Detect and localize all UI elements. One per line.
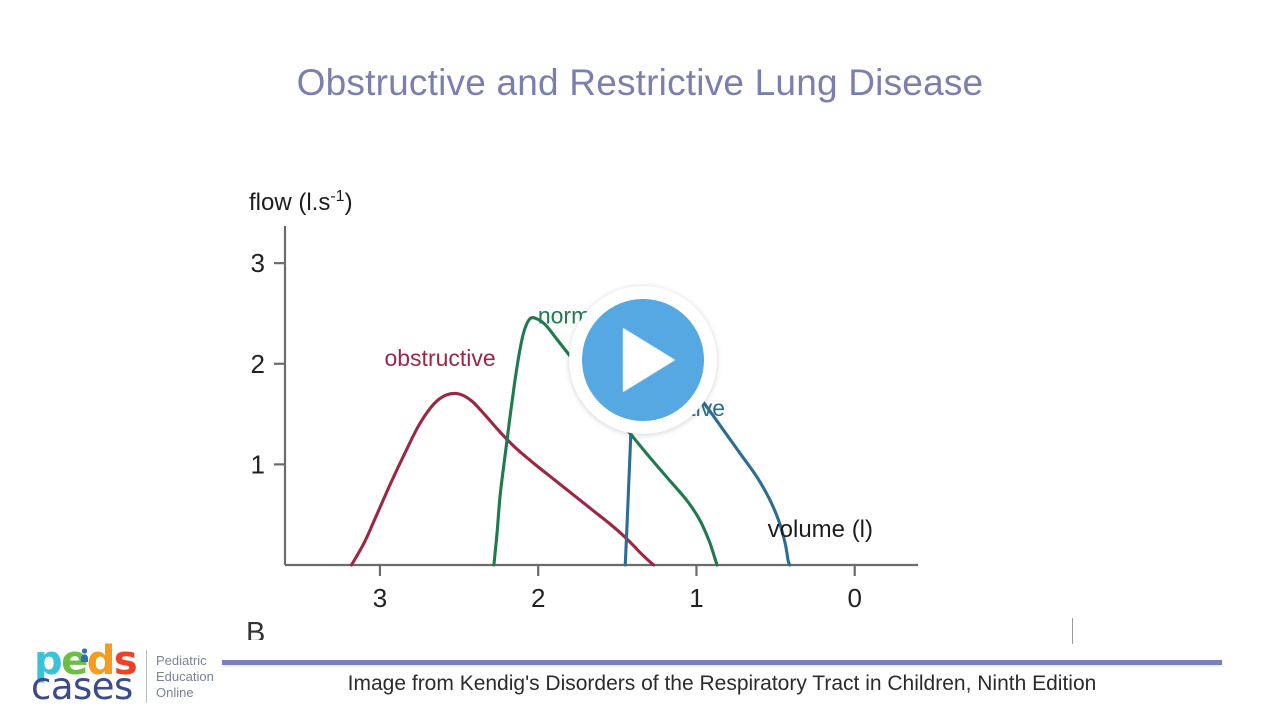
logo-tagline-line-1: Pediatric — [156, 653, 214, 669]
person-icon — [80, 648, 89, 662]
chart-axis-titles: flow (l.s-1)volume (l)B — [246, 188, 873, 640]
play-button[interactable] — [569, 286, 717, 434]
y-tick-label: 1 — [251, 449, 265, 479]
flow-volume-loop-plot: 1233210 obstructivenormalrestrictive flo… — [230, 180, 930, 640]
y-tick-label: 2 — [251, 349, 265, 379]
x-tick-label: 0 — [847, 583, 861, 613]
y-axis-title: flow (l.s-1) — [249, 188, 353, 216]
x-axis-title: volume (l) — [768, 516, 873, 543]
y-tick-label: 3 — [251, 248, 265, 278]
image-source-caption: Image from Kendig's Disorders of the Res… — [222, 672, 1222, 696]
series-label-obstructive: obstructive — [384, 345, 495, 371]
page-title: Obstructive and Restrictive Lung Disease — [0, 62, 1280, 104]
logo-tagline-line-2: Education — [156, 669, 214, 685]
logo-tagline: Pediatric Education Online — [156, 653, 214, 701]
x-tick-label: 2 — [531, 583, 545, 613]
play-button-circle — [582, 299, 704, 421]
play-icon — [623, 328, 675, 392]
logo-tagline-line-3: Online — [156, 685, 214, 701]
slide-canvas: Obstructive and Restrictive Lung Disease… — [0, 0, 1280, 720]
logo-wordmark-cases: cases — [31, 668, 133, 705]
logo-divider — [146, 650, 147, 703]
footer-divider — [222, 660, 1222, 665]
text-caret — [1072, 618, 1073, 644]
x-tick-label: 1 — [689, 583, 703, 613]
pedscases-logo[interactable]: peds cases Pediatric Education Online — [18, 641, 230, 713]
flow-volume-chart: 1233210 obstructivenormalrestrictive flo… — [230, 180, 930, 640]
x-tick-label: 3 — [373, 583, 387, 613]
panel-label: B — [246, 617, 265, 640]
